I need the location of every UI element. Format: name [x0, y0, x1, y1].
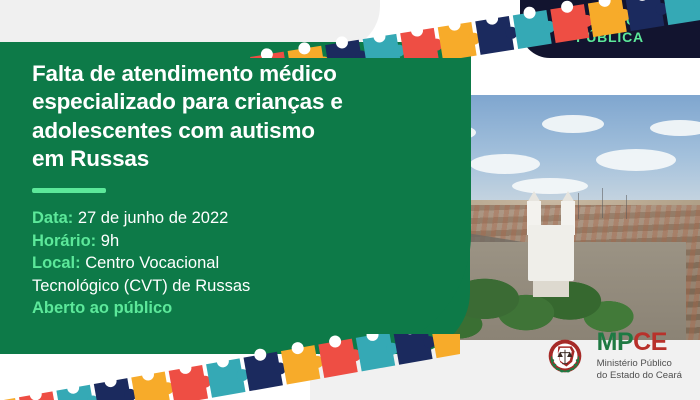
event-place-row-continued: Tecnológico (CVT) de Russas [32, 275, 452, 297]
photo-antenna [602, 188, 603, 218]
badge-line-2: PÚBLICA [576, 29, 644, 46]
event-time-row: Horário: 9h [32, 230, 452, 252]
puzzle-piece [0, 391, 27, 400]
scales-of-justice-emblem [541, 332, 589, 380]
puzzle-piece [130, 365, 176, 400]
mpce-ce: CE [633, 328, 667, 356]
title-line-3: adolescentes com autismo [32, 117, 452, 145]
event-open-note: Aberto ao público [32, 297, 452, 319]
event-details: Data: 27 de junho de 2022 Horário: 9h Lo… [32, 207, 452, 319]
title-line-2: especializado para crianças e [32, 88, 452, 116]
cloud-shape [470, 154, 540, 174]
mpce-logo: MPCE Ministério Público do Estado do Cea… [541, 330, 682, 382]
cloud-shape [650, 120, 700, 136]
church-nave [528, 225, 574, 281]
puzzle-piece [18, 384, 64, 400]
title-line-1: Falta de atendimento médico [32, 60, 452, 88]
event-place-label: Local: [32, 254, 81, 272]
poster-canvas: AUDIÊNCIA PÚBLICA Falta de atendimento m… [0, 0, 700, 400]
event-time-value: 9h [101, 232, 119, 250]
cloud-shape [542, 115, 604, 133]
event-date-label: Data: [32, 209, 73, 227]
puzzle-piece [168, 358, 214, 400]
audiencia-publica-badge: AUDIÊNCIA PÚBLICA [520, 0, 700, 58]
church-steps [533, 281, 569, 297]
poster-content: Falta de atendimento médico especializad… [32, 60, 452, 320]
puzzle-piece [93, 371, 139, 400]
photo-antenna [626, 195, 627, 219]
event-place-value: Centro Vocacional [85, 254, 219, 272]
event-time-label: Horário: [32, 232, 96, 250]
mpce-subtitle-line-1: Ministério Público [597, 358, 682, 370]
page-title: Falta de atendimento médico especializad… [32, 60, 452, 173]
photo-church [519, 193, 583, 281]
puzzle-piece [55, 378, 101, 400]
mpce-acronym: MPCE [597, 330, 682, 355]
mpce-mp: MP [597, 328, 634, 356]
title-divider [32, 188, 106, 193]
mpce-wordmark: MPCE Ministério Público do Estado do Cea… [597, 330, 682, 382]
mpce-subtitle-line-2: do Estado do Ceará [597, 370, 682, 382]
puzzle-piece [205, 351, 251, 397]
mpce-subtitle: Ministério Público do Estado do Ceará [597, 358, 682, 382]
badge-line-1: AUDIÊNCIA [568, 12, 653, 29]
title-line-4: em Russas [32, 145, 452, 173]
event-place-row: Local: Centro Vocacional [32, 252, 452, 274]
event-date-value: 27 de junho de 2022 [78, 209, 228, 227]
puzzle-piece [474, 9, 520, 55]
event-date-row: Data: 27 de junho de 2022 [32, 207, 452, 229]
cloud-shape [596, 149, 676, 171]
